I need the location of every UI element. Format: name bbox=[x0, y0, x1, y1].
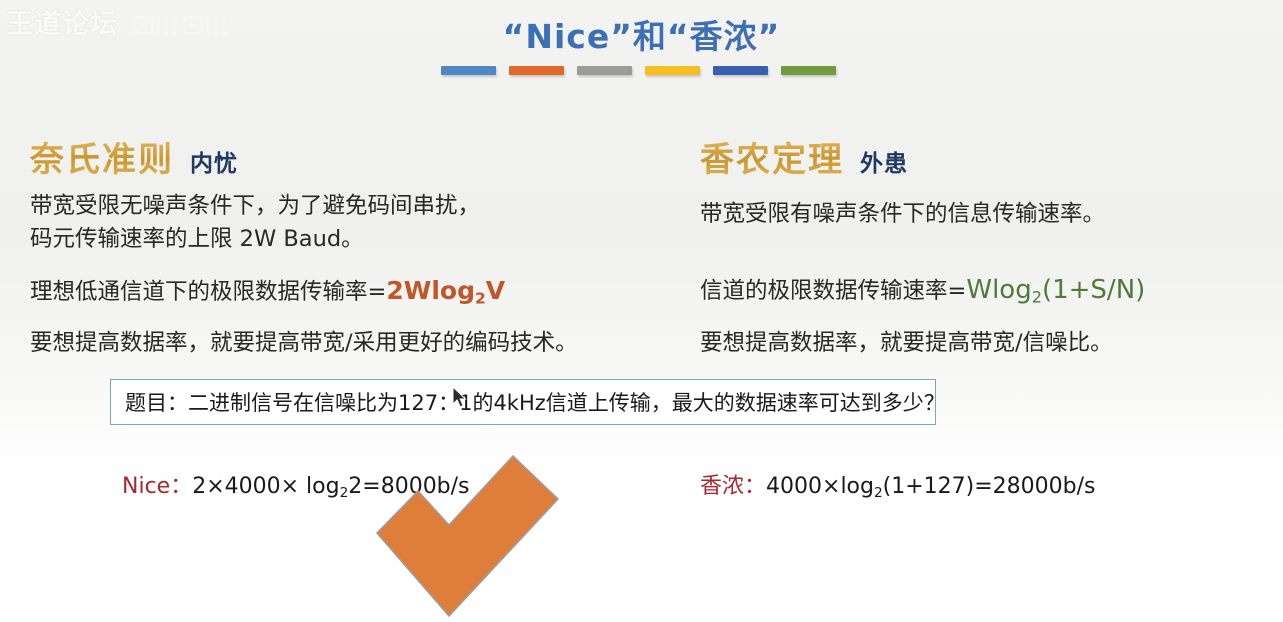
question-text: 题目：二进制信号在信噪比为127：1的4kHz信道上传输，最大的数据速率可达到多… bbox=[125, 387, 945, 417]
left-formula-sub: 2 bbox=[475, 289, 486, 307]
left-paragraph-1-line-1: 带宽受限无噪声条件下，为了避免码间串扰， bbox=[30, 193, 480, 219]
answer-right: 香浓：4000×log2(1+127)=28000b/s bbox=[700, 468, 1096, 501]
answer-right-expr-pre: 4000×log bbox=[766, 474, 874, 499]
bar-navy bbox=[713, 66, 768, 75]
left-paragraph-3: 要想提高数据率，就要提高带宽/采用更好的编码技术。 bbox=[30, 327, 670, 360]
accent-bar-row bbox=[441, 66, 836, 75]
bar-yellow bbox=[645, 66, 700, 75]
mouse-pointer-icon bbox=[452, 386, 468, 410]
left-paragraph-2: 理想低通信道下的极限数据传输率=2Wlog2V bbox=[30, 272, 670, 310]
orange-check-mark-icon bbox=[360, 442, 575, 617]
bar-blue bbox=[441, 66, 496, 75]
left-column: 奈氏准则 内忧 带宽受限无噪声条件下，为了避免码间串扰， 码元传输速率的上限 2… bbox=[30, 132, 670, 360]
right-paragraph-3: 要想提高数据率，就要提高带宽/信噪比。 bbox=[700, 327, 1260, 360]
answer-left-expr-sub: 2 bbox=[340, 485, 349, 501]
right-heading: 香农定理 外患 bbox=[700, 132, 1260, 176]
right-formula-sub: 2 bbox=[1032, 288, 1042, 307]
left-formula-pre: 2Wlog bbox=[386, 276, 475, 305]
left-formula: 2Wlog2V bbox=[386, 276, 505, 305]
left-heading-main: 奈氏准则 bbox=[30, 132, 174, 181]
right-formula: Wlog2(1+S/N) bbox=[966, 275, 1145, 305]
question-box: 题目：二进制信号在信噪比为127：1的4kHz信道上传输，最大的数据速率可达到多… bbox=[110, 379, 936, 425]
slide-title: “Nice”和“香浓” bbox=[0, 10, 1283, 58]
right-column: 香农定理 外患 带宽受限有噪声条件下的信息传输速率。 信道的极限数据传输速率=W… bbox=[700, 132, 1260, 360]
bar-green bbox=[781, 66, 836, 75]
left-paragraph-1-line-2: 码元传输速率的上限 2W Baud。 bbox=[30, 223, 670, 256]
answer-left-expr-pre: 2×4000× log bbox=[192, 474, 339, 499]
right-heading-main: 香农定理 bbox=[700, 132, 844, 181]
answer-right-tag: 香浓： bbox=[700, 474, 766, 499]
answer-right-expr-post: (1+127)=28000b/s bbox=[883, 474, 1096, 499]
bar-orange bbox=[509, 66, 564, 75]
left-heading-sub: 内忧 bbox=[190, 144, 238, 178]
answer-left-tag: Nice： bbox=[122, 474, 192, 499]
left-heading: 奈氏准则 内忧 bbox=[30, 132, 670, 176]
right-formula-post: (1+S/N) bbox=[1042, 275, 1145, 305]
left-paragraph-1: 带宽受限无噪声条件下，为了避免码间串扰， 码元传输速率的上限 2W Baud。 bbox=[30, 190, 670, 257]
answer-right-expr-sub: 2 bbox=[874, 485, 883, 501]
bar-gray bbox=[577, 66, 632, 75]
answer-right-expression: 4000×log2(1+127)=28000b/s bbox=[766, 474, 1096, 499]
left-formula-post: V bbox=[486, 276, 505, 305]
left-paragraph-2-prefix: 理想低通信道下的极限数据传输率= bbox=[30, 279, 386, 305]
right-heading-sub: 外患 bbox=[860, 144, 908, 178]
right-paragraph-2-prefix: 信道的极限数据传输速率= bbox=[700, 278, 966, 304]
right-formula-pre: Wlog bbox=[966, 275, 1031, 305]
right-paragraph-2: 信道的极限数据传输速率=Wlog2(1+S/N) bbox=[700, 271, 1260, 309]
slide-canvas: 王道论坛 “Nice”和“香浓” 奈氏准则 内忧 带宽受限无噪声 bbox=[0, 0, 1283, 613]
right-paragraph-1: 带宽受限有噪声条件下的信息传输速率。 bbox=[700, 198, 1260, 231]
